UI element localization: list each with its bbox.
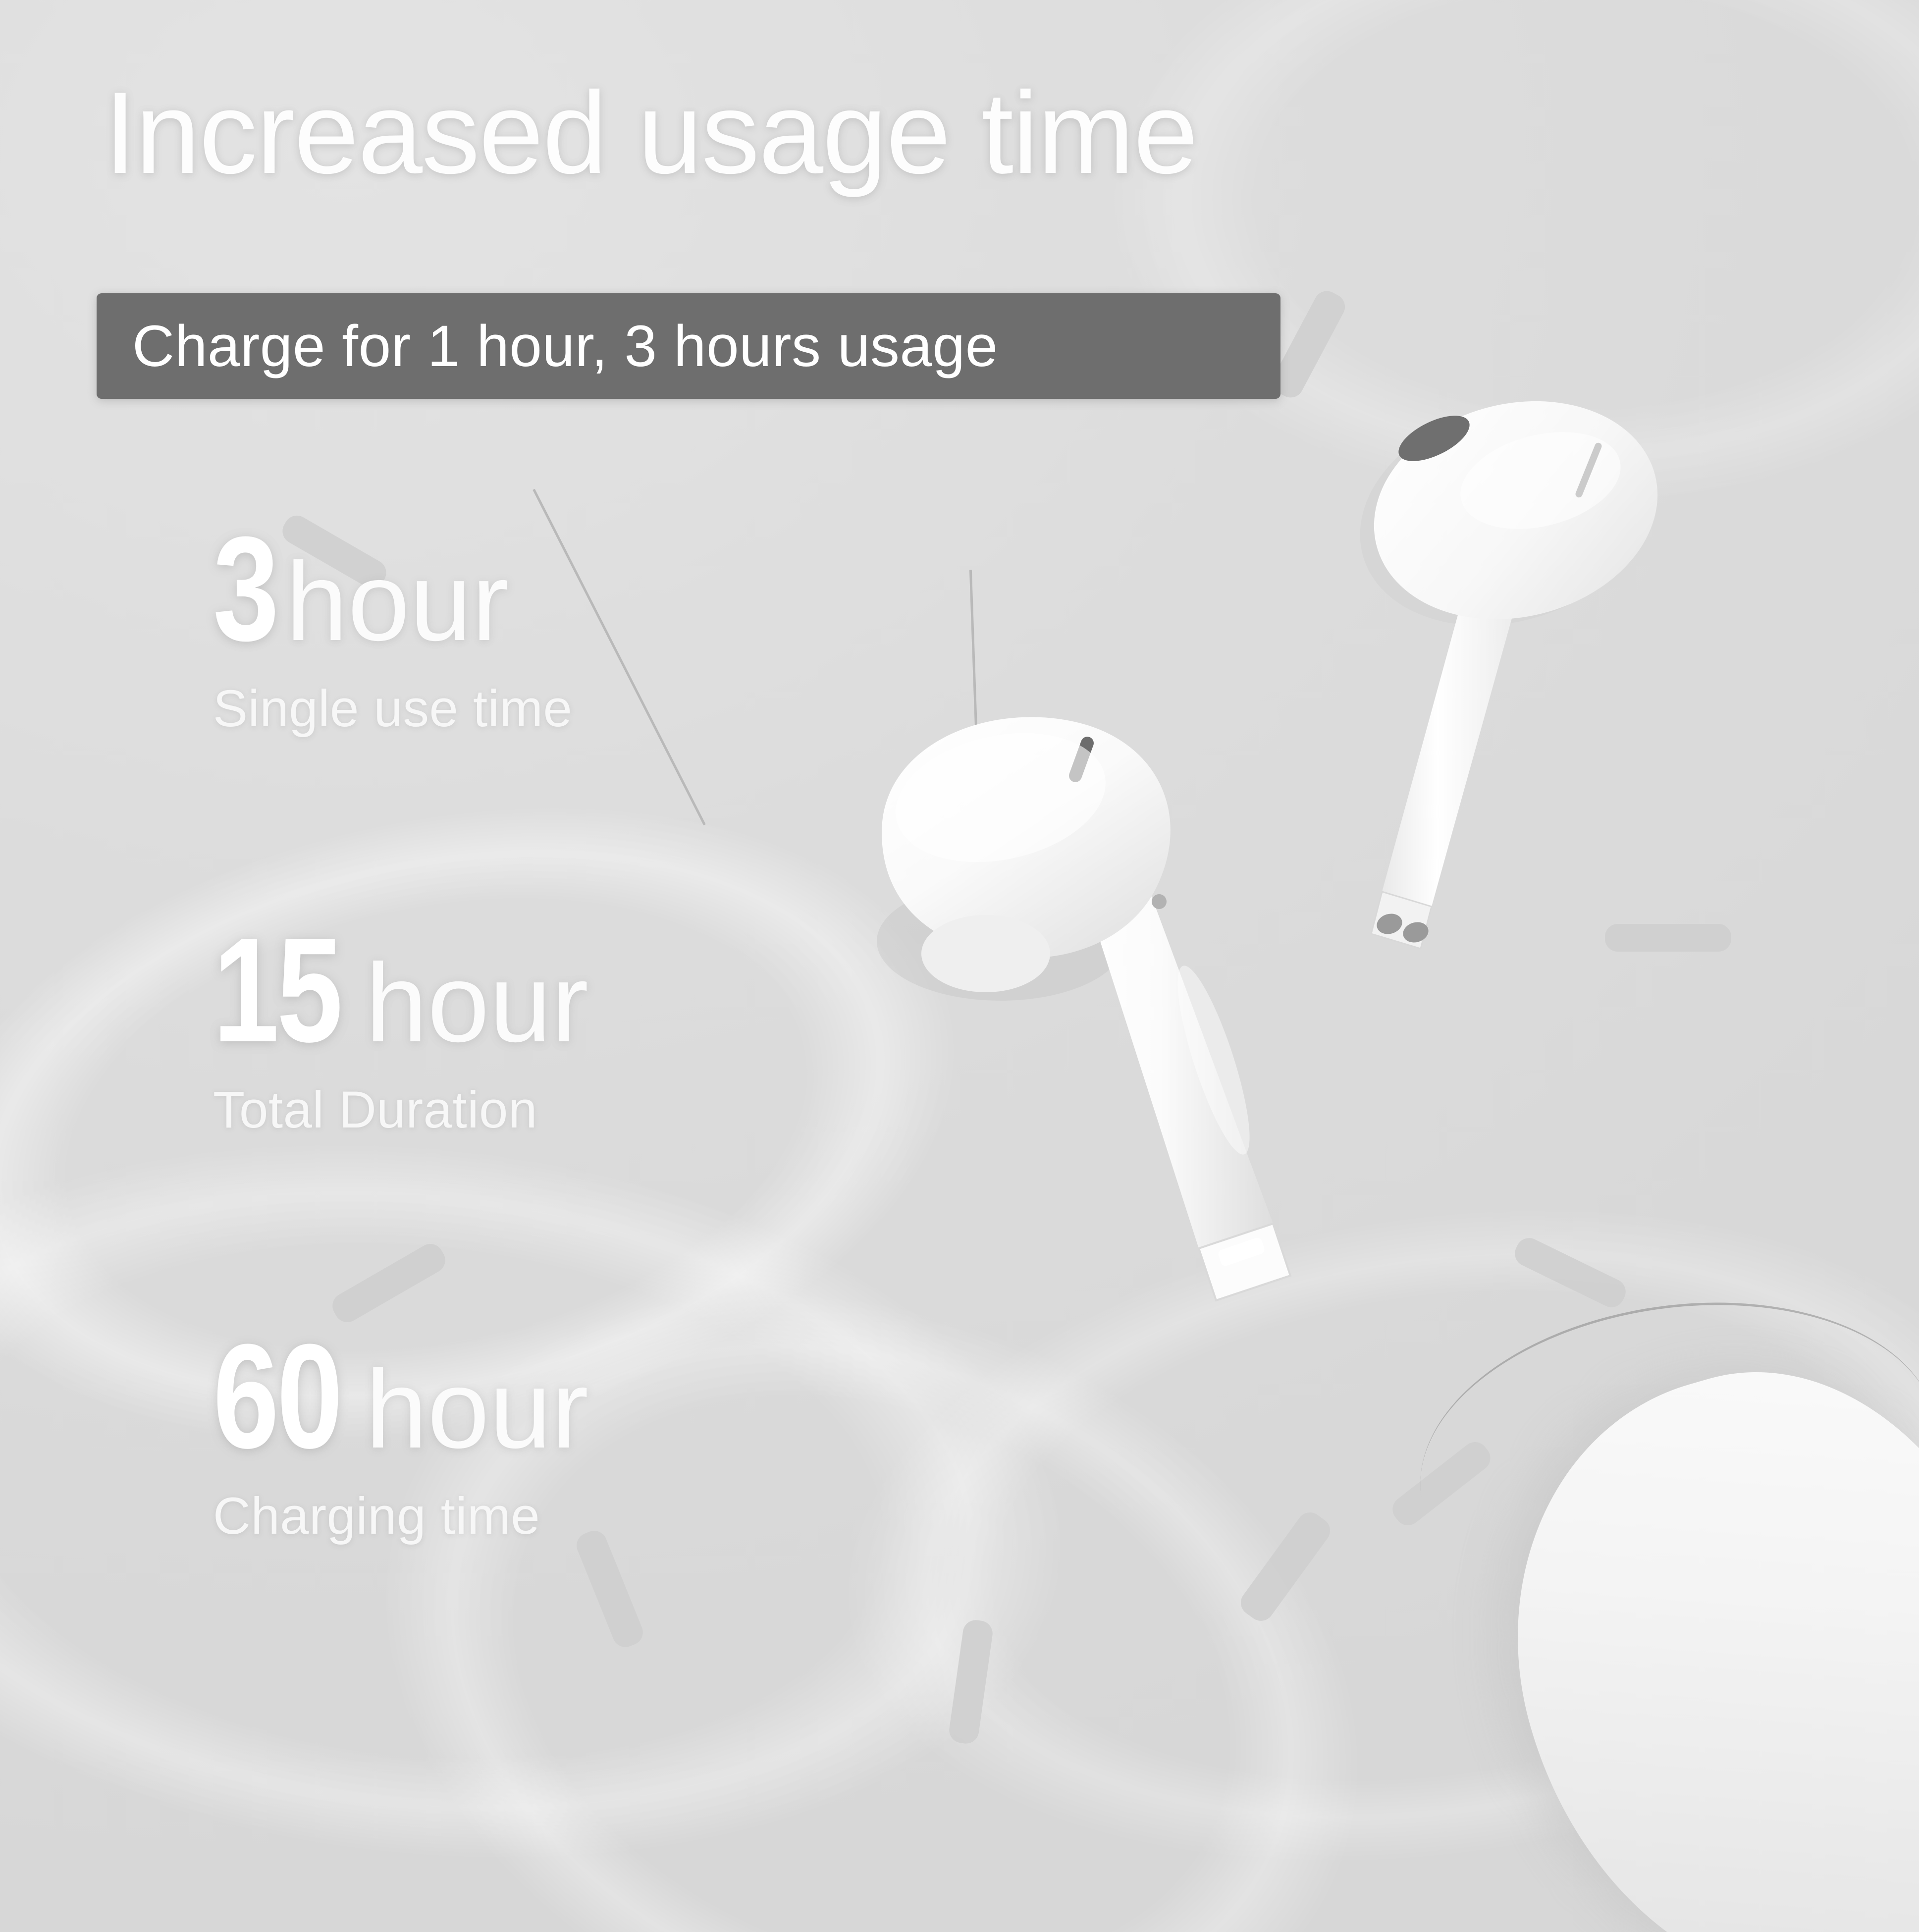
stat-unit: hour — [286, 546, 509, 657]
stat-value: 3 — [213, 520, 277, 657]
clock-tick-mark — [948, 1618, 994, 1745]
wireless-earbud-left — [837, 684, 1372, 1338]
stat-value-row: 15 hour — [213, 921, 588, 1059]
subtitle-banner-text: Charge for 1 hour, 3 hours usage — [132, 313, 998, 380]
page-title: Increased usage time — [104, 74, 1197, 191]
stat-value-row: 60 hour — [213, 1328, 588, 1465]
stat-unit: hour — [366, 1353, 588, 1465]
stat-block-single-use: 3 hour Single use time — [213, 520, 572, 739]
stat-caption: Total Duration — [213, 1080, 588, 1140]
clock-tick-mark — [1510, 1234, 1630, 1311]
stat-value-row: 3 hour — [213, 520, 572, 657]
stat-unit: hour — [366, 947, 588, 1059]
clock-tick-mark — [328, 1239, 450, 1327]
stat-block-charging-time: 60 hour Charging time — [213, 1328, 588, 1546]
stat-value: 60 — [213, 1328, 340, 1464]
stat-value: 15 — [213, 921, 340, 1058]
product-feature-banner: Increased usage time Charge for 1 hour, … — [0, 0, 1919, 1932]
stat-caption: Charging time — [213, 1487, 588, 1546]
clock-tick-mark — [1236, 1507, 1335, 1626]
stat-block-total-duration: 15 hour Total Duration — [213, 921, 588, 1140]
stat-caption: Single use time — [213, 679, 572, 739]
subtitle-banner: Charge for 1 hour, 3 hours usage — [97, 293, 1280, 399]
